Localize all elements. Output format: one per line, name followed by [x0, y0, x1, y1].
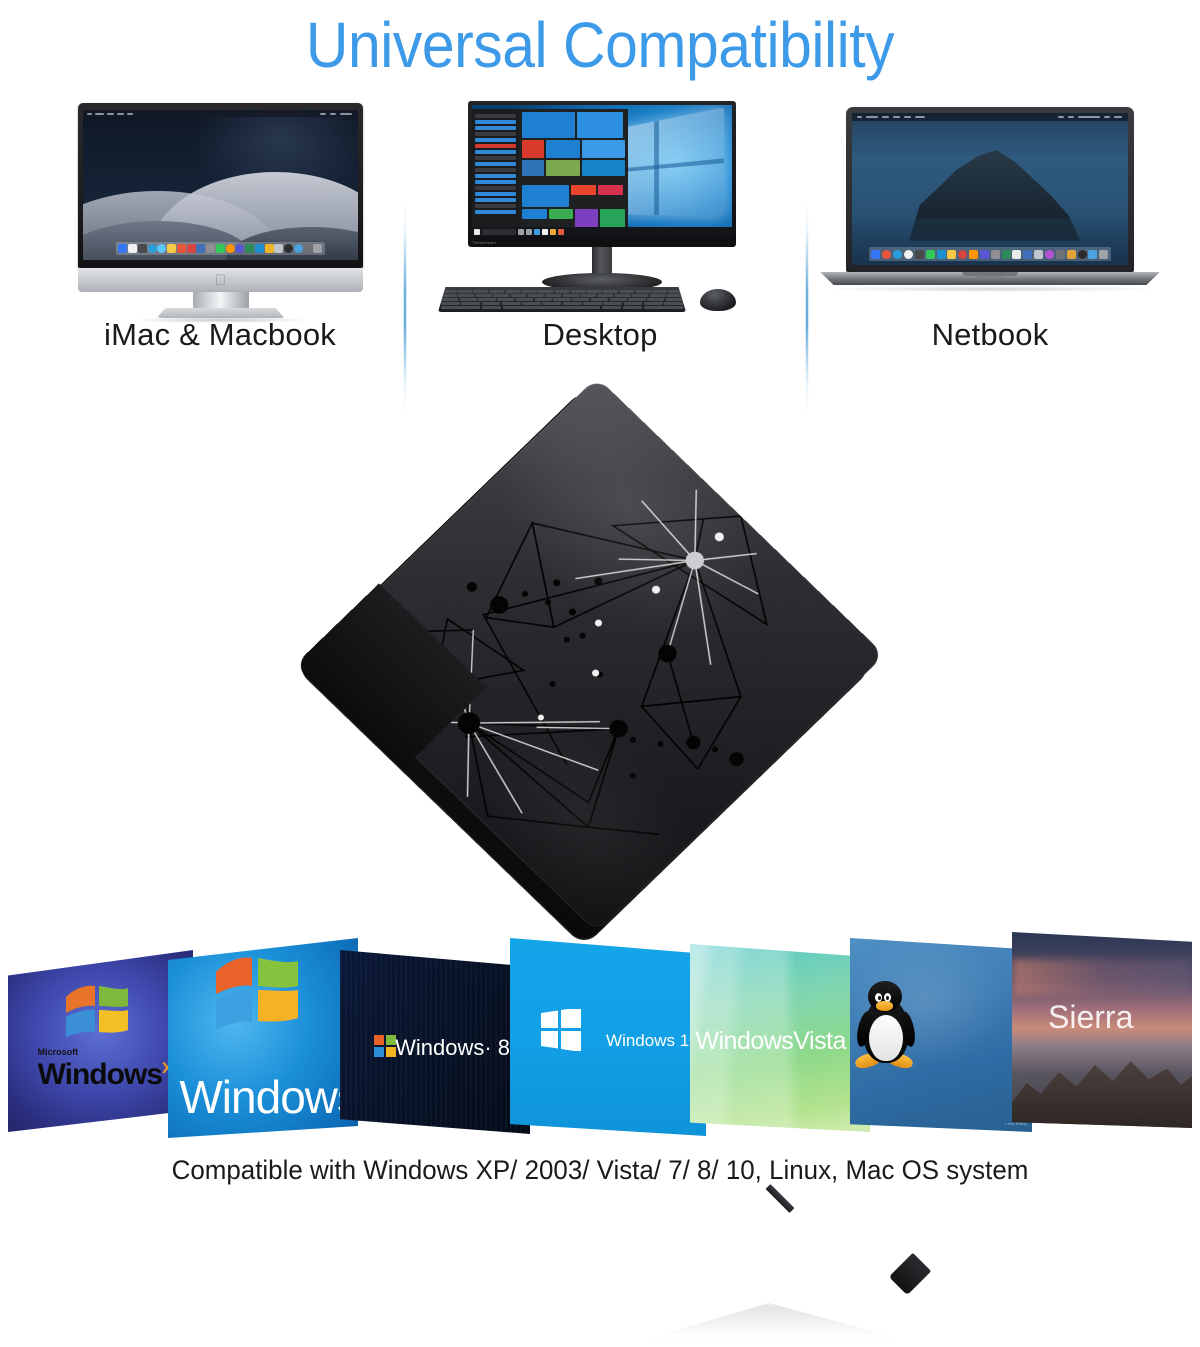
- sierra-mountains: [1012, 1038, 1192, 1128]
- vista-label: WindowsVista: [695, 1027, 846, 1056]
- windows-desktop-illustration: ThinkVision: [410, 95, 790, 310]
- tux-penguin-icon: [855, 981, 917, 1067]
- windows-10-logo-icon: [541, 1009, 581, 1051]
- macbook-lid: [846, 107, 1134, 272]
- win7-label: Windows 7: [179, 1070, 358, 1124]
- macbook-menubar: [852, 113, 1128, 121]
- os-card-win8: Windows· 8: [340, 950, 530, 1134]
- imac-dock[interactable]: [116, 242, 325, 255]
- start-menu-tiles[interactable]: [519, 109, 628, 228]
- imac-illustration: : [30, 95, 410, 310]
- device-cell-imac:  iMac & Macbook: [30, 95, 410, 385]
- device-label-desktop: Desktop: [410, 317, 790, 353]
- dvd-usb-connector: [889, 1253, 931, 1295]
- device-cell-desktop: ThinkVision Desktop: [410, 95, 790, 385]
- win10-label: Windows 10: [606, 1031, 699, 1051]
- product-stage: DVD: [0, 385, 1200, 930]
- compatibility-caption: Compatible with Windows XP/ 2003/ Vista/…: [24, 1155, 1176, 1186]
- keyboard: [438, 287, 686, 312]
- windows-xp-flag-icon: [62, 979, 132, 1039]
- device-label-netbook: Netbook: [800, 317, 1180, 353]
- dvd-drive-product: DVD: [285, 395, 925, 895]
- mouse: [700, 289, 736, 311]
- os-card-linux: Larry Ewing: [850, 938, 1032, 1132]
- os-card-bg-win8: Windows· 8: [340, 950, 530, 1134]
- os-card-bg-sierra: Sierra: [1012, 932, 1192, 1128]
- imac-screen: [83, 110, 358, 260]
- monitor-bezel: [468, 101, 736, 247]
- dvd-eject-button[interactable]: [766, 1184, 795, 1213]
- page-title: Universal Compatibility: [48, 8, 1152, 82]
- os-card-vista: WindowsVista: [690, 944, 870, 1132]
- os-card-bg-win10: Windows 10: [510, 938, 706, 1136]
- os-card-sierra: Sierra: [1012, 932, 1192, 1128]
- os-card-win10: Windows 10: [510, 938, 706, 1136]
- windows-start-menu[interactable]: [472, 109, 628, 228]
- os-card-bg-vista: WindowsVista: [690, 944, 870, 1132]
- os-card-winxp: Microsoft Windowsxp: [8, 950, 193, 1132]
- macbook-shadow: [830, 286, 1150, 292]
- start-menu-app-list[interactable]: [472, 109, 519, 228]
- monitor-brand-label: ThinkVision: [472, 240, 496, 245]
- windows-8-logo-icon: [374, 1035, 396, 1057]
- windows-taskbar[interactable]: [472, 227, 732, 236]
- imac-menubar: [83, 110, 358, 117]
- macbook-screen: [852, 113, 1128, 265]
- winxp-label: Windowsxp: [38, 1057, 183, 1092]
- device-compatibility-row:  iMac & Macbook: [0, 95, 1200, 385]
- os-compatibility-strip: Microsoft Windowsxp Windows 7: [0, 930, 1200, 1145]
- win8-label: Windows· 8: [395, 1035, 510, 1061]
- os-card-bg-winxp: Microsoft Windowsxp: [8, 950, 193, 1132]
- os-card-win7: Windows 7: [168, 938, 358, 1138]
- dvd-reflection: [625, 1303, 925, 1347]
- os-card-bg-linux: Larry Ewing: [850, 938, 1032, 1132]
- device-label-imac: iMac & Macbook: [30, 317, 410, 353]
- macbook-illustration: MacBook Pro: [800, 95, 1180, 310]
- macbook-brand-label: MacBook Pro: [976, 274, 1004, 279]
- os-card-bg-win7: Windows 7: [168, 938, 358, 1138]
- imac-bezel: [78, 103, 363, 268]
- macbook-dock[interactable]: [869, 247, 1112, 261]
- monitor-screen: [472, 105, 732, 236]
- sierra-label: Sierra: [1048, 999, 1133, 1036]
- winxp-microsoft-label: Microsoft: [38, 1047, 79, 1057]
- imac-chin: : [78, 268, 363, 292]
- device-cell-netbook: MacBook Pro Netbook: [800, 95, 1180, 385]
- apple-logo-icon: : [215, 273, 226, 288]
- sierra-clouds: [1012, 959, 1192, 994]
- dvd-drive-body: [309, 377, 885, 933]
- windows-7-flag-icon: [210, 950, 302, 1032]
